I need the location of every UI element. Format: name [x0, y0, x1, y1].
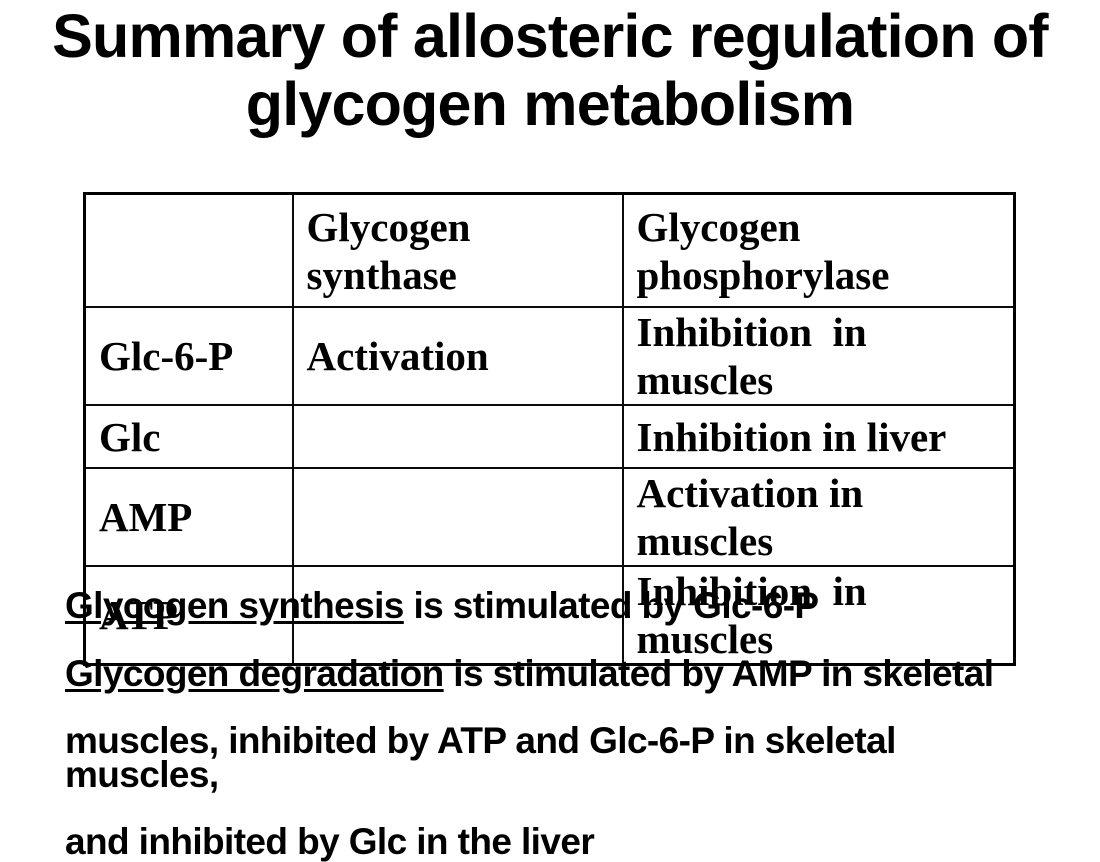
note-body-glycogen-synthesis: is stimulated by Glc-6-P [404, 585, 819, 626]
note-glycogen-degradation: Glycogen degradation is stimulated by AM… [65, 657, 1055, 859]
column-header-glycogen-phosphorylase: Glycogen phosphorylase [623, 194, 1015, 308]
summary-notes: Glycogen synthesis is stimulated by Glc-… [65, 589, 1055, 859]
cell-glycogen-phosphorylase-effect: Inhibition in liver [623, 405, 1015, 468]
table-row: AMP Activation in muscles [85, 468, 1015, 566]
note-lead-glycogen-degradation: Glycogen degradation [65, 653, 444, 694]
page-title: Summary of allosteric regulation of glyc… [0, 2, 1100, 138]
cell-effector: Glc [85, 405, 293, 468]
table-header-row: Glycogen synthase Glycogen phosphorylase [85, 194, 1015, 308]
cell-effector: AMP [85, 468, 293, 566]
table-row: Glc Inhibition in liver [85, 405, 1015, 468]
note-degradation-line-3: and inhibited by Glc in the liver [65, 825, 1055, 859]
note-degradation-line-2: muscles, inhibited by ATP and Glc-6-P in… [65, 724, 1055, 792]
column-header-glycogen-synthase: Glycogen synthase [293, 194, 623, 308]
cell-glycogen-synthase-effect [293, 405, 623, 468]
cell-glycogen-phosphorylase-effect: Inhibition in muscles [623, 307, 1015, 405]
cell-glycogen-synthase-effect [293, 468, 623, 566]
cell-glycogen-phosphorylase-effect: Activation in muscles [623, 468, 1015, 566]
table-row: Glc-6-P Activation Inhibition in muscles [85, 307, 1015, 405]
note-lead-glycogen-synthesis: Glycogen synthesis [65, 585, 404, 626]
cell-effector: Glc-6-P [85, 307, 293, 405]
note-body-glycogen-degradation: is stimulated by AMP in skeletal [444, 653, 994, 694]
cell-glycogen-synthase-effect: Activation [293, 307, 623, 405]
note-glycogen-synthesis: Glycogen synthesis is stimulated by Glc-… [65, 589, 1055, 623]
note-degradation-line-1: Glycogen degradation is stimulated by AM… [65, 657, 1055, 691]
column-header-effector [85, 194, 293, 308]
